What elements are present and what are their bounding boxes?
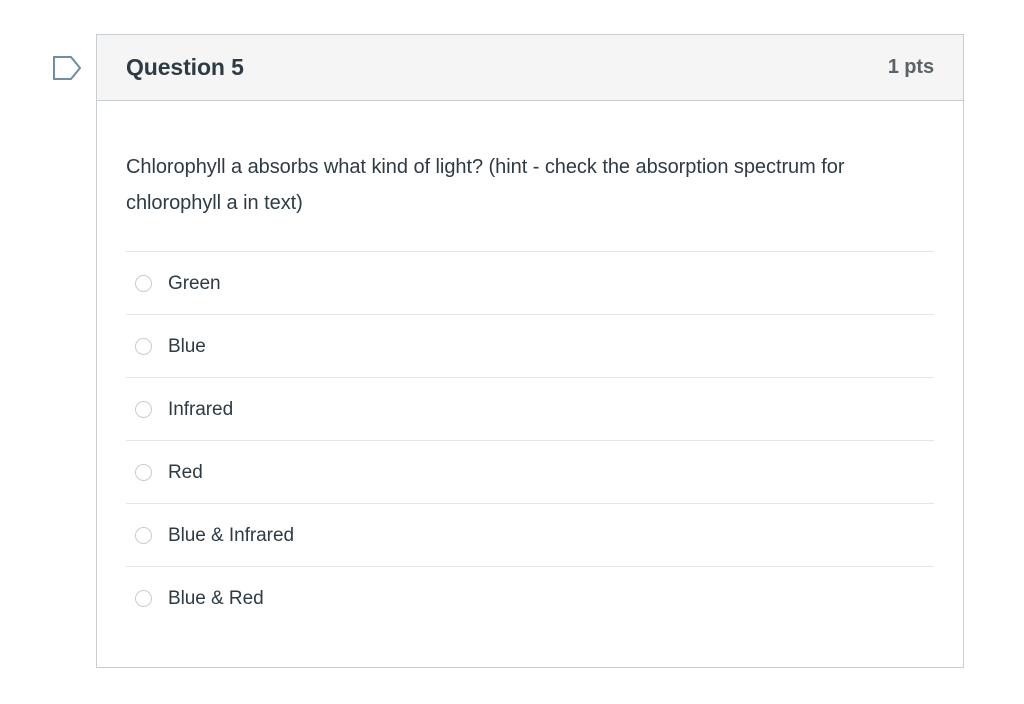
radio-button-icon[interactable] [135,401,152,418]
answer-option-row[interactable]: Blue [126,315,934,378]
answer-option-row[interactable]: Red [126,441,934,504]
answer-option-label: Infrared [168,400,233,419]
radio-button-icon[interactable] [135,590,152,607]
question-points: 1 pts [888,56,934,79]
answer-option-row[interactable]: Blue & Red [126,567,934,630]
answer-option-label: Green [168,274,221,293]
radio-button-icon[interactable] [135,338,152,355]
flag-outline-icon [52,54,82,82]
answer-option-row[interactable]: Infrared [126,378,934,441]
answer-option-label: Blue & Red [168,589,264,608]
question-text: Chlorophyll a absorbs what kind of light… [126,101,871,251]
question-body: Chlorophyll a absorbs what kind of light… [97,101,963,667]
answer-option-label: Blue & Infrared [168,526,294,545]
question-title: Question 5 [126,54,244,81]
quiz-question-page: Question 5 1 pts Chlorophyll a absorbs w… [0,0,1024,704]
radio-button-icon[interactable] [135,464,152,481]
question-header: Question 5 1 pts [97,35,963,101]
answer-option-row[interactable]: Blue & Infrared [126,504,934,567]
answer-option-label: Red [168,463,203,482]
radio-button-icon[interactable] [135,527,152,544]
question-card: Question 5 1 pts Chlorophyll a absorbs w… [96,34,964,668]
radio-button-icon[interactable] [135,275,152,292]
answer-option-label: Blue [168,337,206,356]
answer-options-list: Green Blue Infrared Red Blue & Infrared [126,251,934,630]
answer-option-row[interactable]: Green [126,252,934,315]
